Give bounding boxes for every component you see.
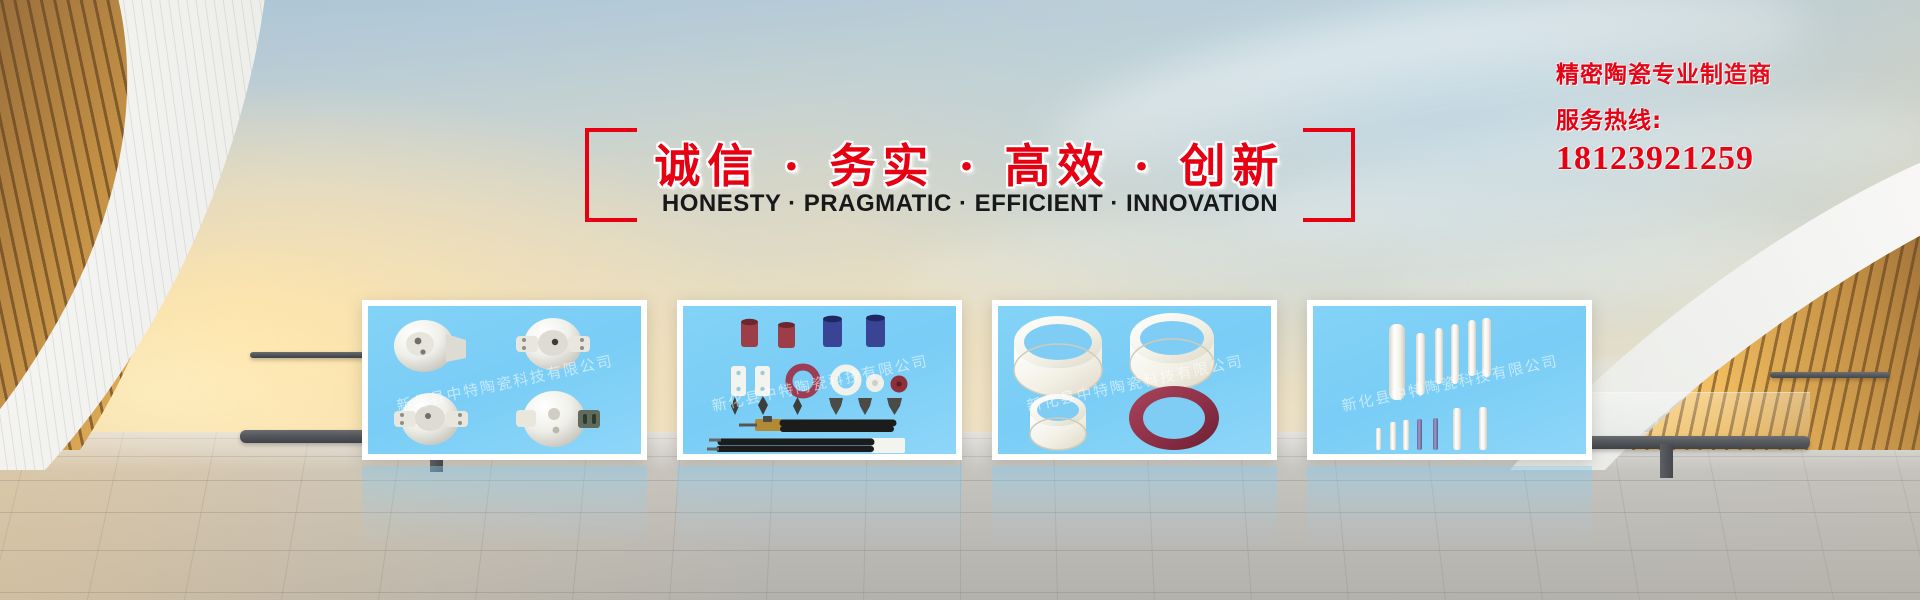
ceramic-rings-illustration xyxy=(998,306,1271,454)
panel-inner: 新化县中特陶瓷科技有限公司 xyxy=(683,306,956,454)
slogan-english: HONESTY · PRAGMATIC · EFFICIENT · INNOVA… xyxy=(585,190,1355,218)
railing-handrail-right xyxy=(1770,372,1890,378)
hotline-label: 服务热线: xyxy=(1556,106,1896,136)
ceramic-connectors-illustration xyxy=(683,306,956,454)
railing-post-right xyxy=(1660,444,1673,478)
railing-handrail-left xyxy=(250,352,370,358)
slogan-chinese: 诚信 · 务实 · 高效 · 创新 xyxy=(585,130,1355,196)
ceramic-lamp-holders-illustration xyxy=(368,306,641,454)
hotline-number[interactable]: 18123921259 xyxy=(1556,138,1896,180)
product-panel-ceramic-connectors[interactable]: 新化县中特陶瓷科技有限公司 xyxy=(677,300,962,460)
ceramic-rods-illustration xyxy=(1313,306,1586,454)
bracket-bottom-left-icon xyxy=(585,218,637,222)
contact-block: 精密陶瓷专业制造商 服务热线: 18123921259 xyxy=(1556,60,1896,180)
slogan-block: 诚信 · 务实 · 高效 · 创新 HONESTY · PRAGMATIC · … xyxy=(585,128,1355,248)
panel-inner: 新化县中特陶瓷科技有限公司 xyxy=(998,306,1271,454)
bracket-bottom-right-icon xyxy=(1303,218,1355,222)
product-panel-ceramic-lamp-holders[interactable]: 新化县中特陶瓷科技有限公司 xyxy=(362,300,647,460)
product-panel-ceramic-rings[interactable]: 新化县中特陶瓷科技有限公司 xyxy=(992,300,1277,460)
company-tagline: 精密陶瓷专业制造商 xyxy=(1556,60,1896,90)
panel-inner: 新化县中特陶瓷科技有限公司 xyxy=(368,306,641,454)
product-panel-ceramic-rods[interactable]: 新化县中特陶瓷科技有限公司 xyxy=(1307,300,1592,460)
banner-stage: 诚信 · 务实 · 高效 · 创新 HONESTY · PRAGMATIC · … xyxy=(0,0,1920,600)
panel-inner: 新化县中特陶瓷科技有限公司 xyxy=(1313,306,1586,454)
glass-railing-right xyxy=(1560,392,1810,440)
